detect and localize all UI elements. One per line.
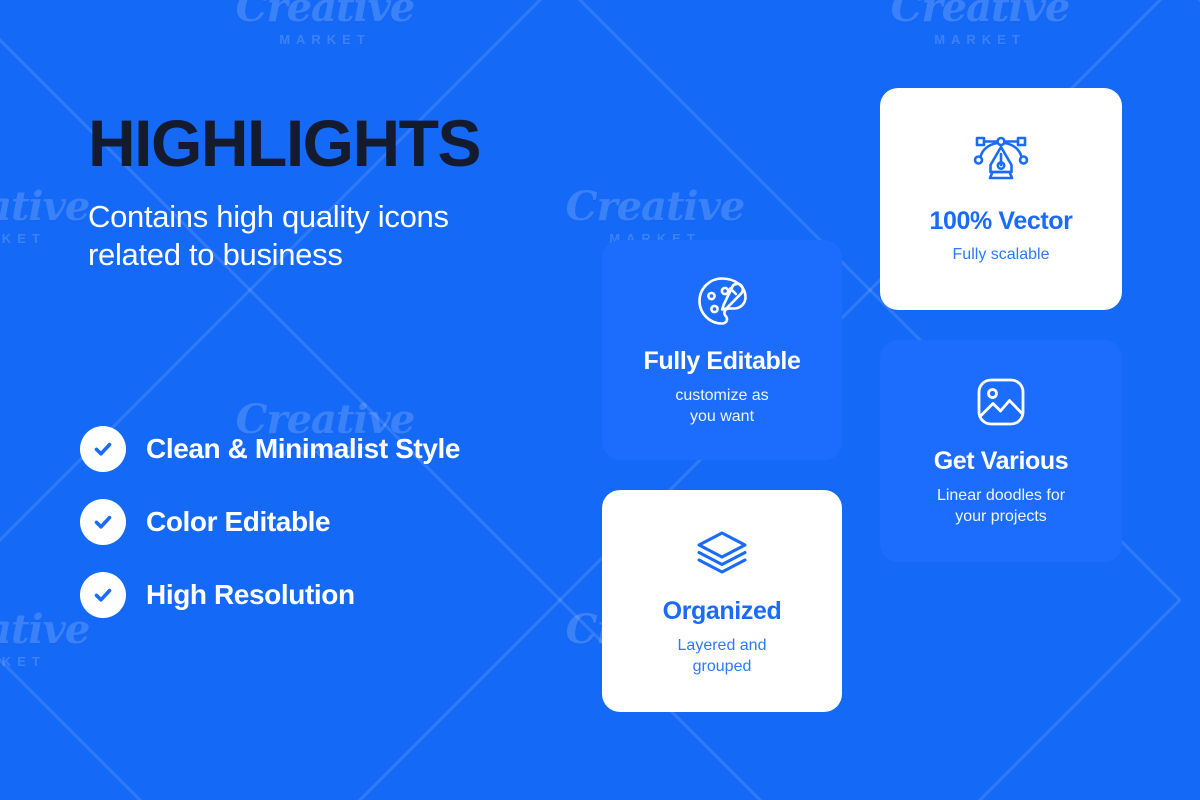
watermark-script-text: Creative [545,185,765,229]
feature-item-color-editable: Color Editable [80,499,550,545]
card-subtitle: Layered and grouped [678,636,767,678]
watermark-script-text: Creative [215,0,435,30]
feature-label: Color Editable [146,506,330,538]
watermark-script-text: Creative [870,0,1090,30]
card-get-various[interactable]: Get Various Linear doodles for your proj… [880,340,1122,562]
watermark-sub-text: MARKET [870,32,1090,47]
page-title: HIGHLIGHTS [88,110,558,176]
feature-item-clean-minimalist-style: Clean & Minimalist Style [80,426,550,472]
card-fully-editable[interactable]: Fully Editable customize as you want [602,240,842,460]
card-title: 100% Vector [930,208,1073,236]
feature-label: Clean & Minimalist Style [146,433,460,465]
layers-icon [694,524,750,580]
palette-icon [693,272,751,330]
card-organized[interactable]: Organized Layered and grouped [602,490,842,712]
feature-item-high-resolution: High Resolution [80,572,550,618]
watermark: CreativeMARKET [870,0,1090,47]
check-icon [80,426,126,472]
watermark-sub-text: MARKET [0,654,110,669]
watermark-sub-text: MARKET [215,32,435,47]
check-icon [80,499,126,545]
card-title: Fully Editable [644,348,801,376]
feature-label: High Resolution [146,579,355,611]
image-icon [973,374,1029,430]
watermark: CreativeMARKET [215,0,435,47]
pen-tool-icon [972,132,1030,190]
card-subtitle: Fully scalable [953,245,1050,266]
card-subtitle: Linear doodles for your projects [937,486,1065,528]
page-subtitle: Contains high quality icons related to b… [88,198,558,274]
card-subtitle: customize as you want [675,386,768,428]
feature-list: Clean & Minimalist Style Color Editable … [80,426,550,645]
card-vector[interactable]: 100% Vector Fully scalable [880,88,1122,310]
check-icon [80,572,126,618]
watermark: CreativeMARKET [545,185,765,246]
card-title: Get Various [934,448,1069,476]
card-title: Organized [663,598,782,626]
hero-panel: HIGHLIGHTS Contains high quality icons r… [88,110,558,274]
